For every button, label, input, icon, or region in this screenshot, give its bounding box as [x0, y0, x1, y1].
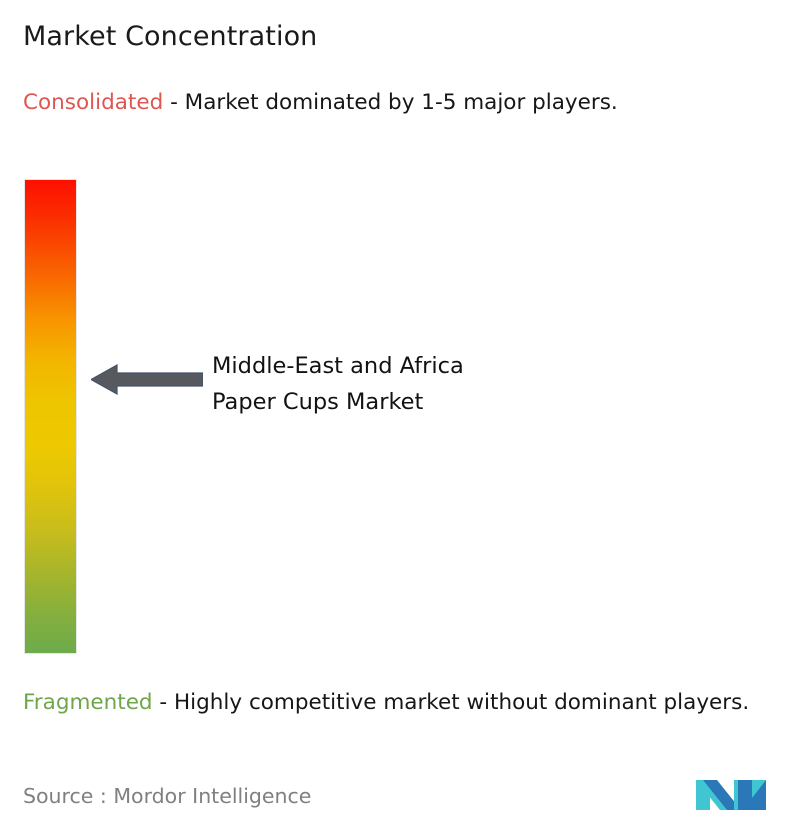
legend-consolidated-description: - Market dominated by 1-5 major players. [163, 90, 618, 115]
legend-fragmented-term: Fragmented [23, 690, 153, 715]
mordor-intelligence-logo [694, 766, 770, 816]
callout-label: Middle-East and Africa Paper Cups Market [212, 348, 464, 420]
page-title: Market Concentration [23, 20, 317, 54]
market-concentration-gradient-bar [25, 180, 76, 653]
legend-fragmented: Fragmented - Highly competitive market w… [23, 687, 783, 718]
legend-consolidated-term: Consolidated [23, 90, 163, 115]
source-attribution: Source : Mordor Intelligence [23, 782, 311, 810]
legend-fragmented-description: - Highly competitive market without domi… [153, 690, 750, 715]
left-arrow-icon [91, 363, 203, 396]
legend-consolidated: Consolidated - Market dominated by 1-5 m… [23, 87, 783, 118]
